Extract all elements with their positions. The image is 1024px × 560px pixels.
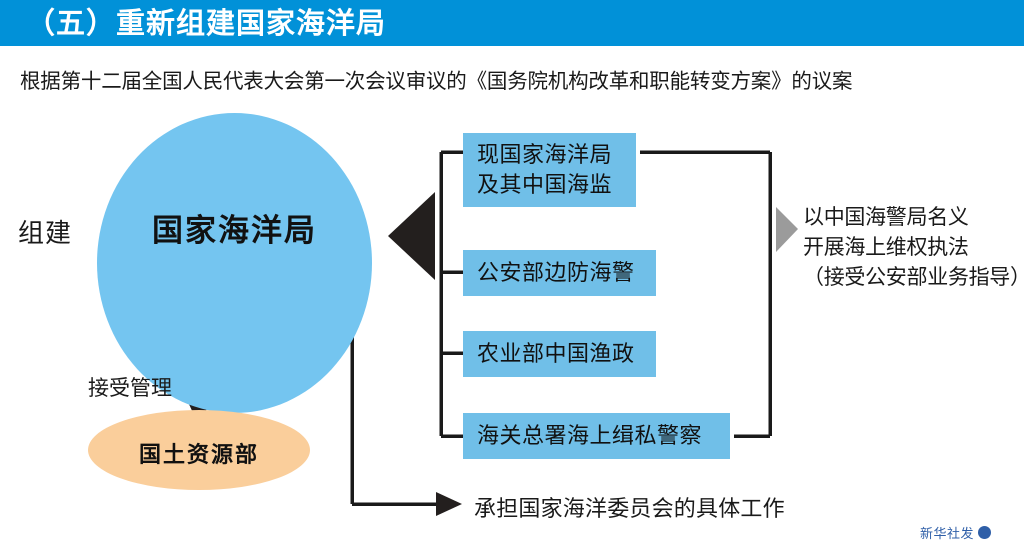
right-note-line1: 以中国海警局名义 — [803, 203, 1024, 233]
merged-unit-box[interactable]: 公安部边防海警 — [463, 250, 656, 296]
merged-unit-line1: 现国家海洋局 — [477, 140, 612, 170]
formation-label: 组建 — [18, 213, 72, 250]
right-note-line2: 开展海上维权执法 — [803, 233, 1024, 263]
merge-arrow-left-icon — [388, 192, 435, 280]
supervising-body-label: 国土资源部 — [88, 437, 310, 469]
right-note-line3: （接受公安部业务指导） — [803, 263, 1024, 293]
duty-arrow-head-icon — [436, 492, 462, 516]
watermark-text: 新华社发 — [920, 523, 974, 542]
bottom-duty-note: 承担国家海洋委员会的具体工作 — [474, 491, 785, 523]
watermark: 新华社发 — [920, 523, 991, 542]
manage-relation-label: 接受管理 — [88, 372, 172, 402]
merged-unit-line2: 及其中国海监 — [477, 170, 612, 200]
page-title: （五）重新组建国家海洋局 — [26, 4, 386, 44]
merged-unit-line1: 公安部边防海警 — [477, 258, 635, 288]
result-arrow-right-icon — [776, 207, 798, 252]
merged-unit-box[interactable]: 现国家海洋局 及其中国海监 — [463, 133, 636, 207]
main-entity-label: 国家海洋局 — [97, 205, 372, 250]
merged-unit-box[interactable]: 农业部中国渔政 — [463, 331, 656, 377]
merged-unit-line1: 农业部中国渔政 — [477, 339, 635, 369]
right-outcome-note: 以中国海警局名义 开展海上维权执法 （接受公安部业务指导） — [803, 203, 1024, 292]
merged-unit-line1: 海关总署海上缉私警察 — [477, 421, 702, 451]
infographic-canvas: （五）重新组建国家海洋局 根据第十二届全国人民代表大会第一次会议审议的《国务院机… — [0, 0, 1024, 560]
merged-unit-box[interactable]: 海关总署海上缉私警察 — [463, 413, 730, 459]
xinhua-logo-icon — [978, 526, 991, 539]
subtitle-text: 根据第十二届全国人民代表大会第一次会议审议的《国务院机构改革和职能转变方案》的议… — [20, 64, 1010, 94]
main-entity-circle — [97, 113, 372, 413]
